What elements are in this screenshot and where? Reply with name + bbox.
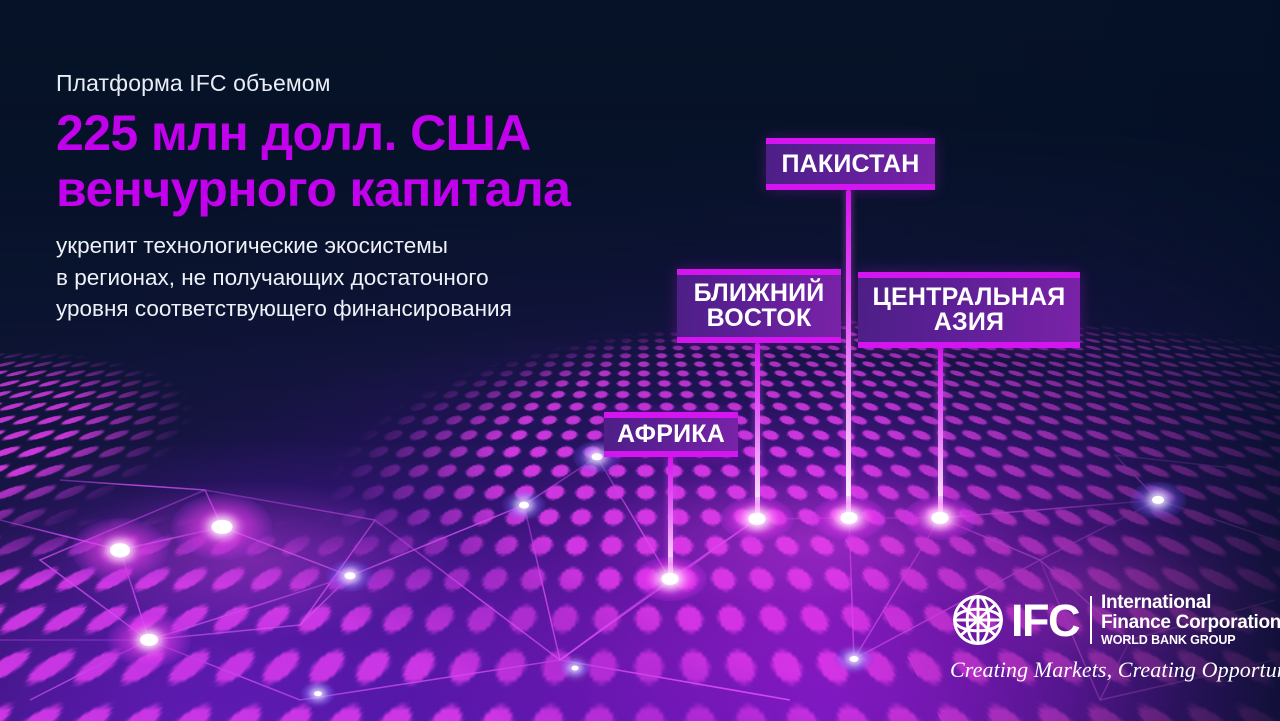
region-label-text: ЦЕНТРАЛЬНАЯАЗИЯ [873,285,1066,335]
logo-name-line-2: Finance Corporation [1101,613,1280,633]
region-label-line-1: ПАКИСТАН [781,152,919,177]
headline-line-1: 225 млн долл. США [56,106,676,160]
headline-line-2: венчурного капитала [56,162,676,216]
globe-icon [948,590,1008,650]
connector-stem-middle-east [755,343,760,521]
region-label-middle-east[interactable]: БЛИЖНИЙВОСТОК [677,269,841,343]
logo-acronym: IFC [1011,598,1079,643]
logo-fullname: International Finance Corporation WORLD … [1101,593,1280,648]
ifc-logo-lockup: IFC International Finance Corporation WO… [948,590,1280,683]
region-label-line-1: БЛИЖНИЙ [694,281,825,306]
headline-text-block: Платформа IFC объемом 225 млн долл. США … [56,70,676,325]
region-label-central-asia[interactable]: ЦЕНТРАЛЬНАЯАЗИЯ [858,272,1080,348]
infographic-canvas: Платформа IFC объемом 225 млн долл. США … [0,0,1280,721]
region-label-line-1: ЦЕНТРАЛЬНАЯ [873,285,1066,310]
logo-name-line-3: WORLD BANK GROUP [1101,634,1280,647]
region-label-text: БЛИЖНИЙВОСТОК [694,281,825,331]
subtitle-line-1: укрепит технологические экосистемы [56,230,676,262]
region-label-line-1: АФРИКА [617,422,725,447]
subtitle-line-3: уровня соответствующего финансирования [56,293,676,325]
region-label-africa[interactable]: АФРИКА [604,412,738,457]
region-label-line-2: ВОСТОК [694,306,825,331]
region-label-text: АФРИКА [617,422,725,447]
logo-name-line-1: International [1101,593,1280,613]
subtitle-line-2: в регионах, не получающих достаточного [56,262,676,294]
logo-primary-row: IFC International Finance Corporation WO… [948,590,1280,650]
region-label-text: ПАКИСТАН [781,152,919,177]
region-label-pakistan[interactable]: ПАКИСТАН [766,138,935,190]
logo-divider [1090,596,1092,644]
eyebrow-text: Платформа IFC объемом [56,70,676,98]
connector-stem-pakistan [846,190,851,520]
connector-stem-africa [668,457,673,580]
logo-tagline: Creating Markets, Creating Opportunities [950,657,1280,683]
region-label-line-2: АЗИЯ [873,310,1066,335]
connector-stem-central-asia [938,348,943,520]
